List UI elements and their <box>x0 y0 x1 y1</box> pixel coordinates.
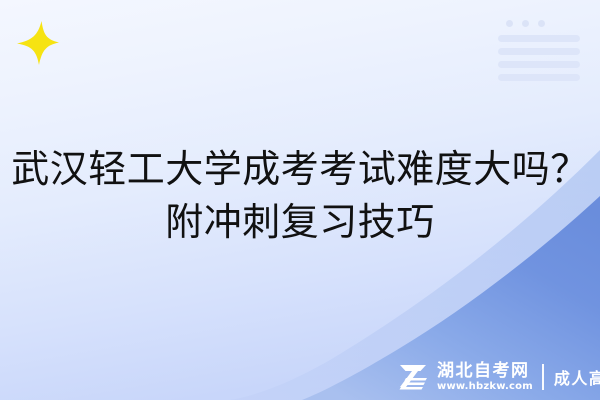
logo-site-url: www.hbzkw.com <box>437 380 533 393</box>
headline-line-1: 武汉轻工大学成考考试难度大吗？ <box>0 143 600 196</box>
window-mock-dot <box>506 20 513 27</box>
hbzkw-z-mark-icon <box>396 362 430 392</box>
banner-headline: 武汉轻工大学成考考试难度大吗？ 附冲刺复习技巧 <box>0 143 600 249</box>
logo-category-tag: 成人高考 <box>554 365 600 389</box>
window-mock-bar <box>498 61 580 68</box>
window-mock-bars <box>498 35 585 81</box>
banner-canvas: 武汉轻工大学成考考试难度大吗？ 附冲刺复习技巧 湖北自考网 www.hbzkw.… <box>0 0 600 400</box>
site-logo-lockup[interactable]: 湖北自考网 www.hbzkw.com 成人高考 <box>396 358 600 396</box>
window-mock-bar <box>498 48 580 55</box>
window-mock-dot <box>538 20 545 27</box>
logo-divider <box>542 364 544 390</box>
headline-line-2: 附冲刺复习技巧 <box>0 196 600 249</box>
window-mock-bar <box>498 35 580 42</box>
window-mock-bar <box>498 74 580 81</box>
logo-wordmark: 湖北自考网 www.hbzkw.com <box>437 360 533 394</box>
browser-window-placeholder-icon <box>493 8 585 72</box>
sparkle-star-icon <box>16 20 60 66</box>
window-mock-dot <box>522 20 529 27</box>
window-mock-dots <box>506 20 585 27</box>
logo-site-name: 湖北自考网 <box>437 362 533 380</box>
